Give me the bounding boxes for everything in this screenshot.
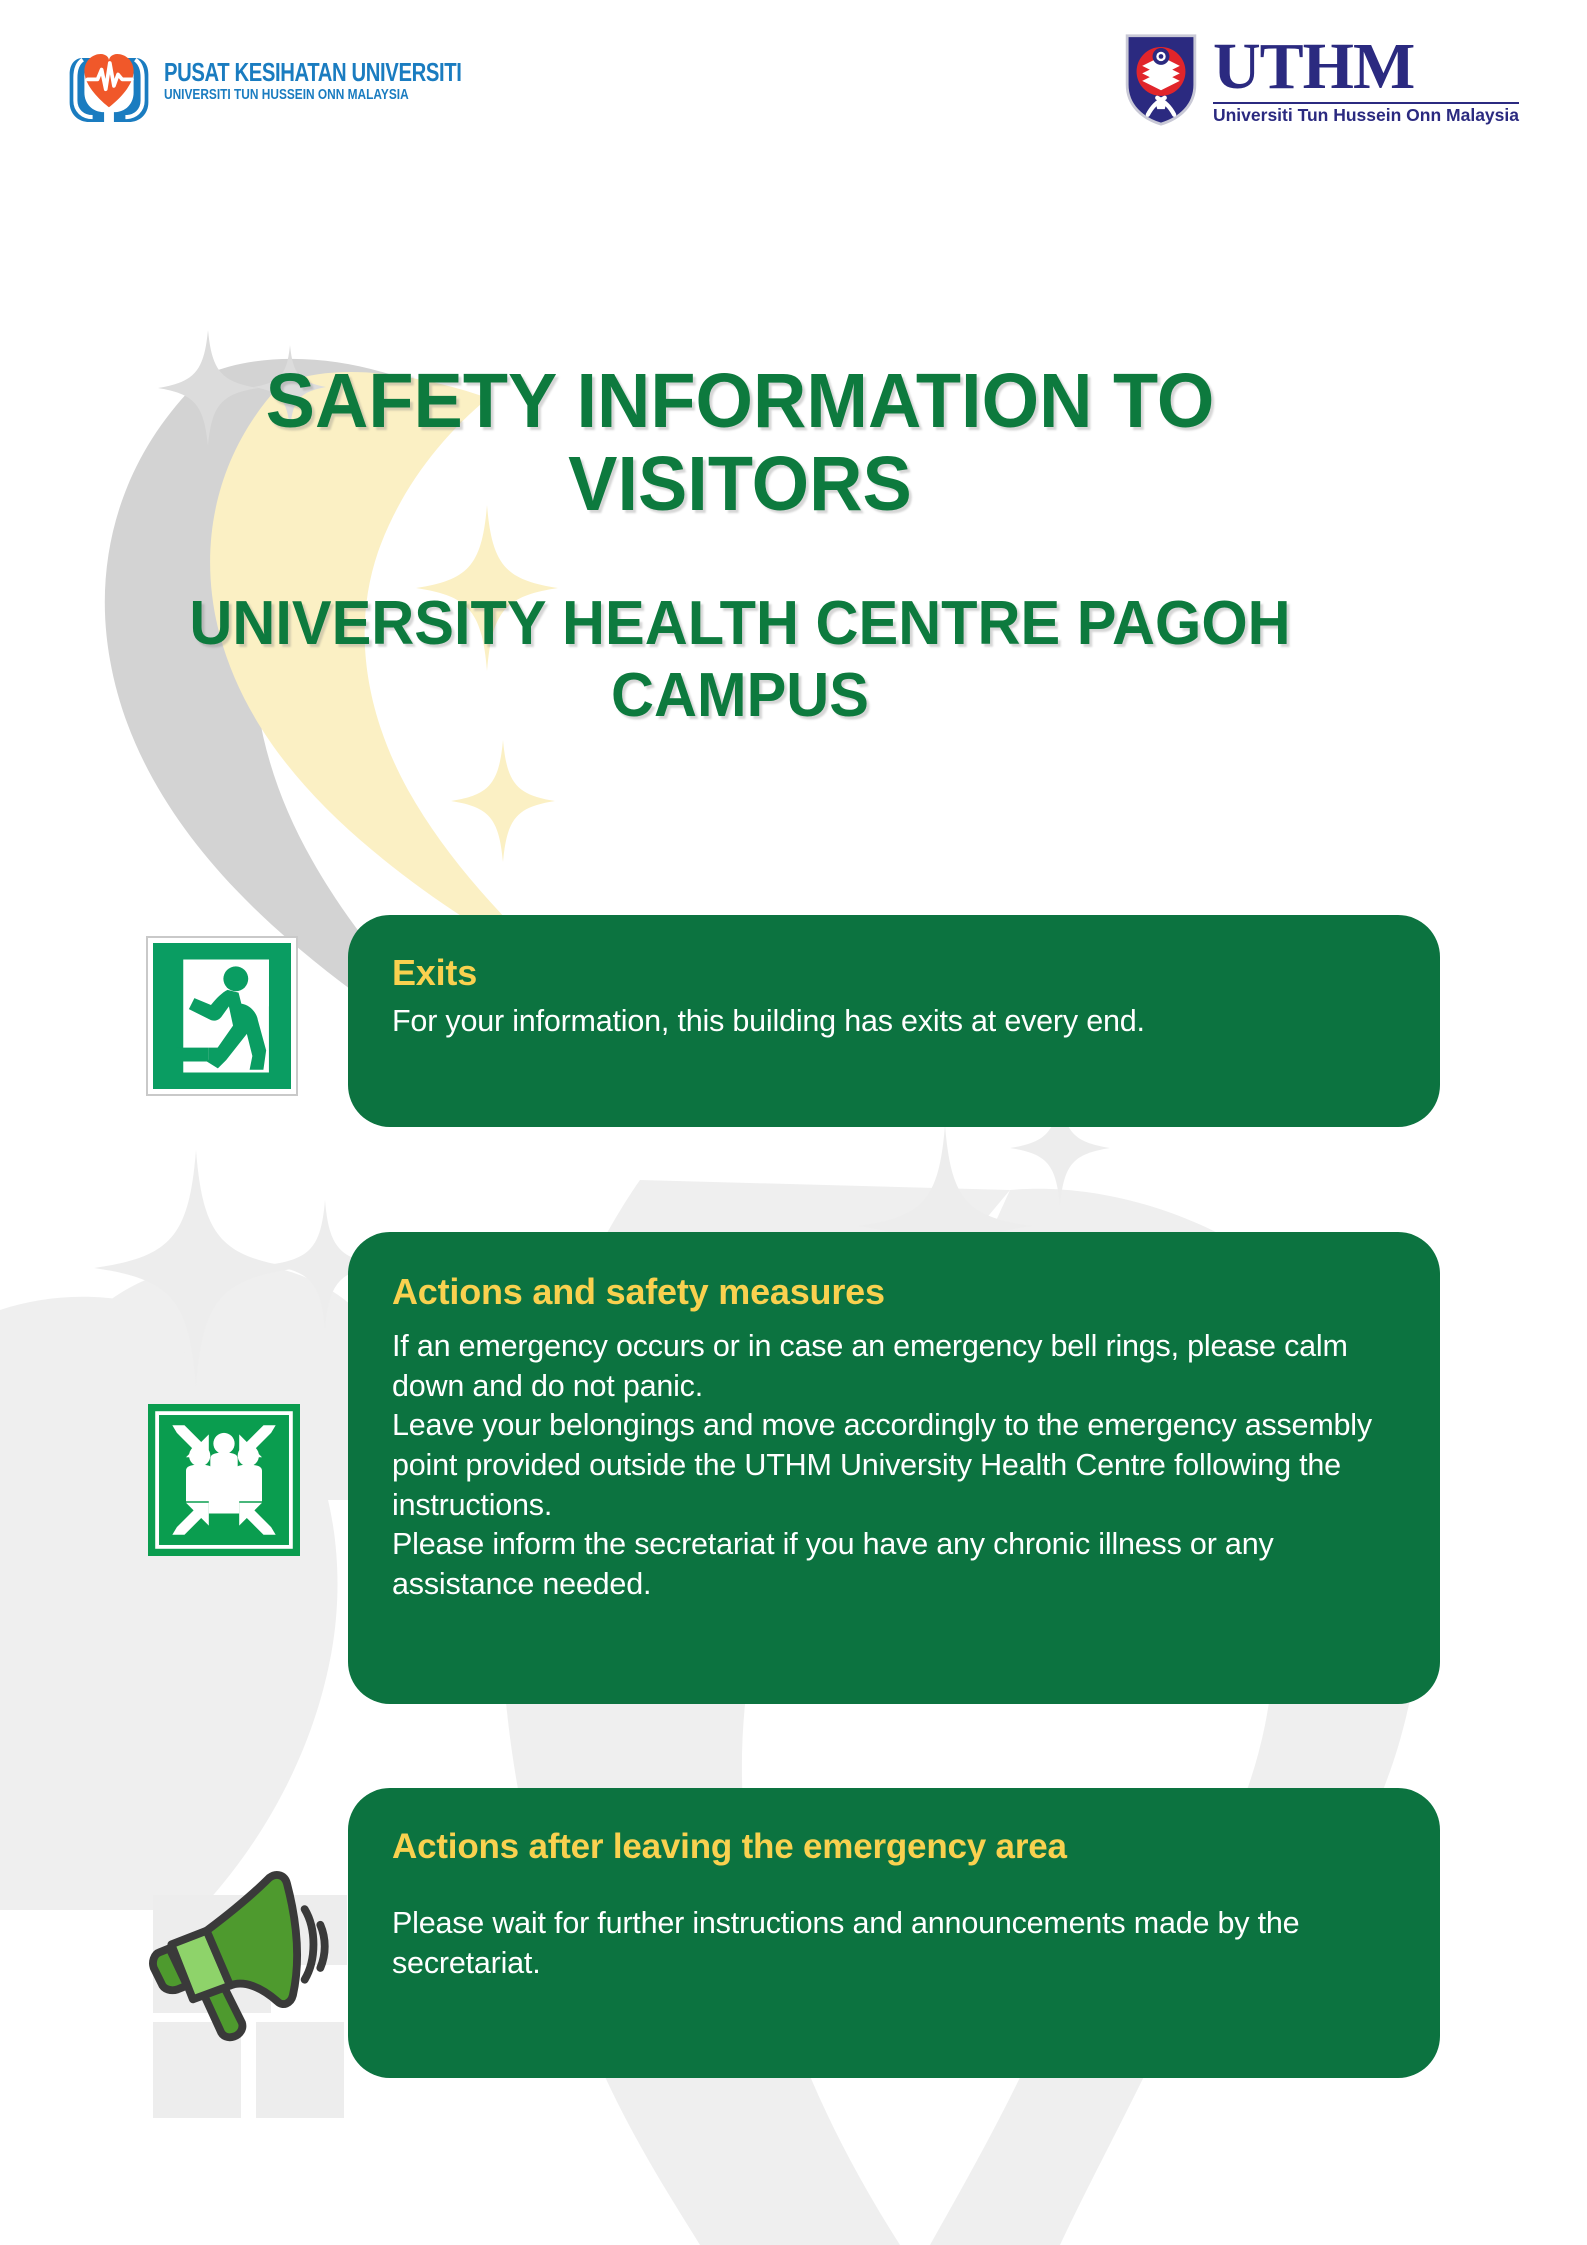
card-body-exits: For your information, this building has … [392, 1002, 1396, 1042]
pku-logo-line2: UNIVERSITI TUN HUSSEIN ONN MALAYSIA [164, 88, 477, 103]
megaphone-announcement-icon [140, 1866, 336, 2062]
card-body-after: Please wait for further instructions and… [392, 1904, 1396, 1983]
card-title-exits: Exits [392, 951, 1396, 994]
emergency-assembly-point-icon [148, 1404, 300, 1556]
card-title-after: Actions after leaving the emergency area [392, 1826, 1396, 1868]
hands-heart-pulse-logo-icon [68, 38, 150, 124]
uthm-logo-wordmark: UTHM Universiti Tun Hussein Onn Malaysia [1213, 32, 1519, 125]
poster-titles: SAFETY INFORMATION TO VISITORS UNIVERSIT… [150, 360, 1330, 731]
uthm-acronym: UTHM [1213, 36, 1519, 99]
pku-logo-line1: PUSAT KESIHATAN UNIVERSITI [164, 59, 461, 85]
page-subtitle: UNIVERSITY HEALTH CENTRE PAGOH CAMPUS [174, 588, 1307, 731]
page-title: SAFETY INFORMATION TO VISITORS [174, 360, 1307, 526]
pku-logo: PUSAT KESIHATAN UNIVERSITI UNIVERSITI TU… [68, 38, 545, 124]
card-body-actions: If an emergency occurs or in case an eme… [392, 1327, 1396, 1604]
info-card-actions-after-leaving: Actions after leaving the emergency area… [348, 1788, 1440, 2078]
card-title-actions: Actions and safety measures [392, 1270, 1396, 1313]
pku-logo-wordmark: PUSAT KESIHATAN UNIVERSITI UNIVERSITI TU… [164, 59, 545, 103]
poster-header: PUSAT KESIHATAN UNIVERSITI UNIVERSITI TU… [0, 0, 1587, 175]
uthm-logo: UTHM Universiti Tun Hussein Onn Malaysia [1123, 32, 1519, 126]
uthm-shield-crest-icon [1123, 32, 1199, 126]
uthm-subtitle: Universiti Tun Hussein Onn Malaysia [1213, 106, 1519, 125]
info-card-exits: Exits For your information, this buildin… [348, 915, 1440, 1127]
safety-information-poster: PUSAT KESIHATAN UNIVERSITI UNIVERSITI TU… [0, 0, 1587, 2245]
emergency-exit-running-man-icon [146, 936, 298, 1096]
uthm-logo-divider [1213, 102, 1519, 104]
info-card-actions-and-safety-measures: Actions and safety measures If an emerge… [348, 1232, 1440, 1704]
